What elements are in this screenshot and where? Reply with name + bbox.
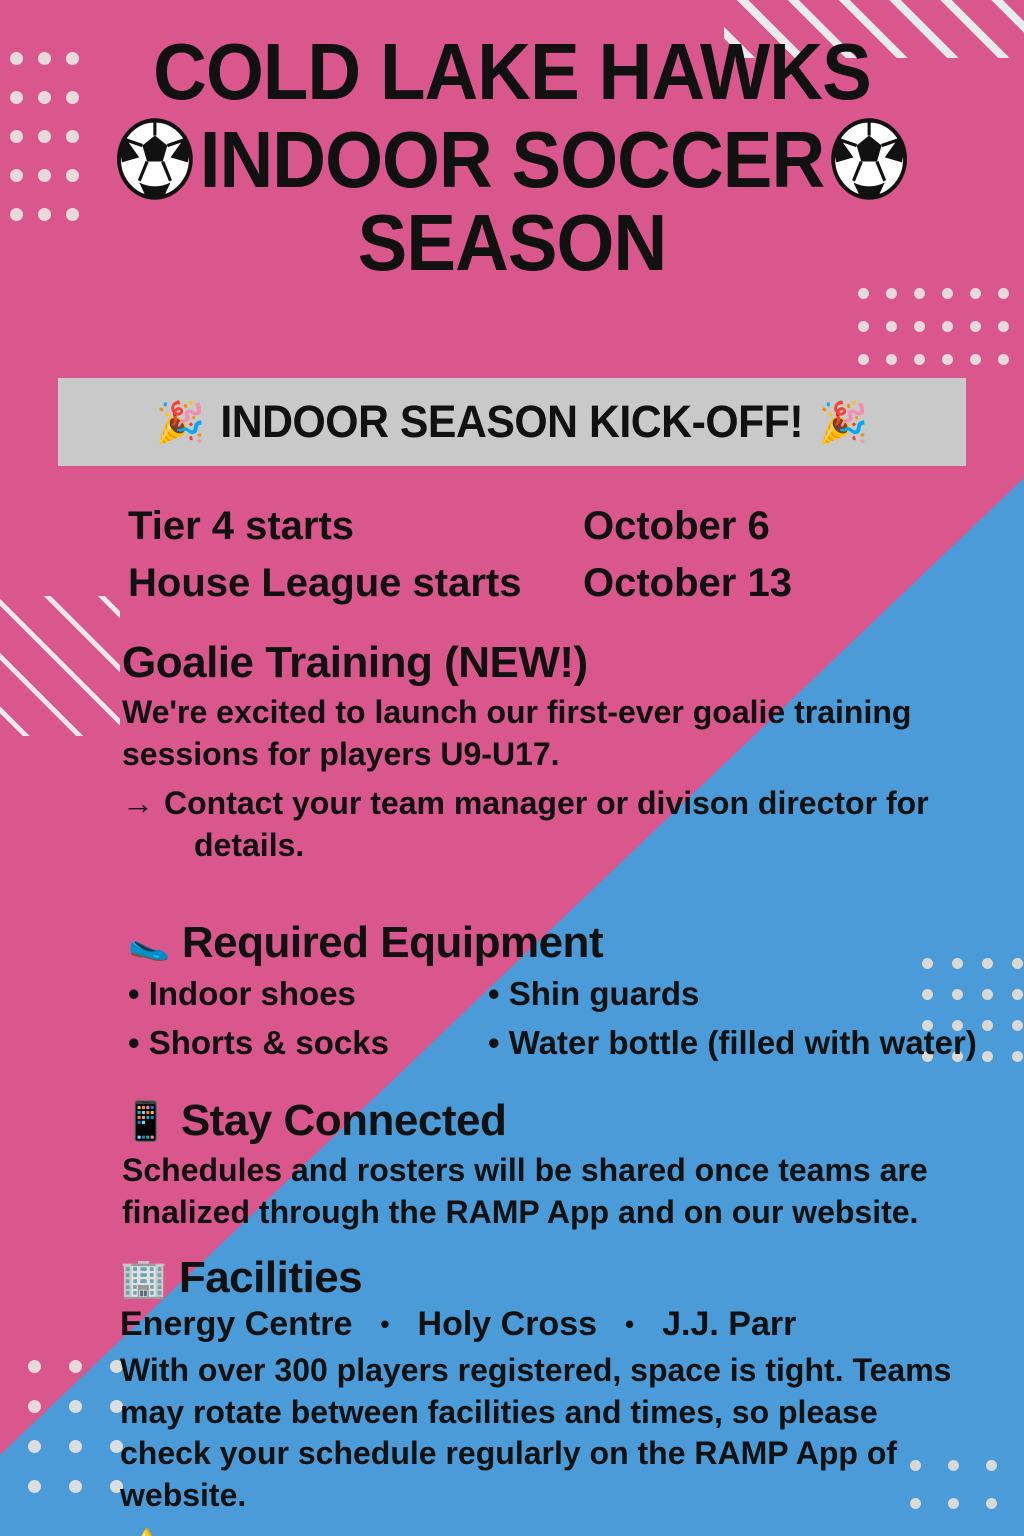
date-label: House League starts [128, 555, 583, 612]
equipment-heading-row: 🥿 Required Equipment [128, 920, 988, 966]
stay-connected-heading: Stay Connected [181, 1098, 507, 1144]
title-line-2-text: INDOOR SOCCER [200, 115, 824, 204]
list-item: • Indoor shoes [128, 972, 488, 1017]
title-line-2: INDOOR SOCCER [36, 117, 988, 201]
facilities-note: ⚠️ Note: House League games will begin i… [120, 1531, 960, 1536]
equipment-heading: Required Equipment [182, 920, 603, 966]
poster-content: COLD LAKE HAWKS INDOOR SOCCER [0, 0, 1024, 1536]
goalie-training-heading: Goalie Training (NEW!) [122, 640, 962, 686]
kickoff-banner: 🎉 INDOOR SEASON KICK-OFF! 🎉 [58, 378, 966, 466]
poster-root: COLD LAKE HAWKS INDOOR SOCCER [0, 0, 1024, 1536]
date-value: October 6 [583, 498, 770, 555]
stay-connected-body: Schedules and rosters will be shared onc… [122, 1150, 952, 1233]
list-item: • Water bottle (filled with water) [488, 1021, 988, 1066]
bullet-separator: • [380, 1309, 389, 1340]
title-line-3: SEASON [36, 205, 988, 282]
date-value: October 13 [583, 555, 792, 612]
facilities-body: With over 300 players registered, space … [120, 1350, 960, 1516]
list-item: • Shorts & socks [128, 1021, 488, 1066]
party-popper-icon: 🎉 [155, 399, 205, 446]
soccer-ball-icon [116, 117, 194, 201]
date-row: House League starts October 13 [128, 555, 888, 612]
party-popper-icon: 🎉 [819, 399, 869, 446]
bullet-separator: • [625, 1309, 634, 1340]
goalie-training-bullet-text: Contact your team manager or divison dir… [164, 783, 962, 866]
warning-icon: ⚠️ [128, 1531, 165, 1536]
venue-name: J.J. Parr [662, 1305, 796, 1344]
facilities-heading-row: 🏢 Facilities [120, 1255, 960, 1301]
date-label: Tier 4 starts [128, 498, 583, 555]
facilities-venue-list: Energy Centre • Holy Cross • J.J. Parr [120, 1305, 960, 1344]
kickoff-banner-text: INDOOR SEASON KICK-OFF! [221, 396, 804, 448]
title-line-1: COLD LAKE HAWKS [36, 34, 988, 111]
goalie-training-bullet: → Contact your team manager or divison d… [122, 783, 962, 866]
equipment-list: • Indoor shoes • Shin guards • Shorts & … [128, 972, 988, 1066]
mobile-phone-icon: 📱 [122, 1102, 169, 1140]
goalie-training-body: We're excited to launch our first-ever g… [122, 692, 962, 775]
season-dates: Tier 4 starts October 6 House League sta… [128, 498, 888, 612]
facilities-note-text: Note: House League games will begin in N… [177, 1531, 937, 1536]
goalie-bullet-line-2: details. [164, 825, 962, 867]
section-facilities: 🏢 Facilities Energy Centre • Holy Cross … [120, 1255, 960, 1536]
page-title: COLD LAKE HAWKS INDOOR SOCCER [36, 34, 988, 282]
shoe-icon: 🥿 [128, 926, 170, 960]
section-stay-connected: 📱 Stay Connected Schedules and rosters w… [122, 1098, 952, 1233]
facilities-heading: Facilities [179, 1255, 362, 1301]
venue-name: Energy Centre [120, 1305, 352, 1344]
stay-connected-heading-row: 📱 Stay Connected [122, 1098, 952, 1144]
section-goalie-training: Goalie Training (NEW!) We're excited to … [122, 640, 962, 867]
arrow-icon: → [122, 783, 154, 866]
soccer-ball-icon [830, 117, 908, 201]
venue-name: Holy Cross [418, 1305, 598, 1344]
list-item: • Shin guards [488, 972, 988, 1017]
date-row: Tier 4 starts October 6 [128, 498, 888, 555]
office-building-icon: 🏢 [120, 1259, 167, 1297]
goalie-bullet-line-1: Contact your team manager or divison dir… [164, 785, 929, 821]
section-required-equipment: 🥿 Required Equipment • Indoor shoes • Sh… [128, 920, 988, 1066]
